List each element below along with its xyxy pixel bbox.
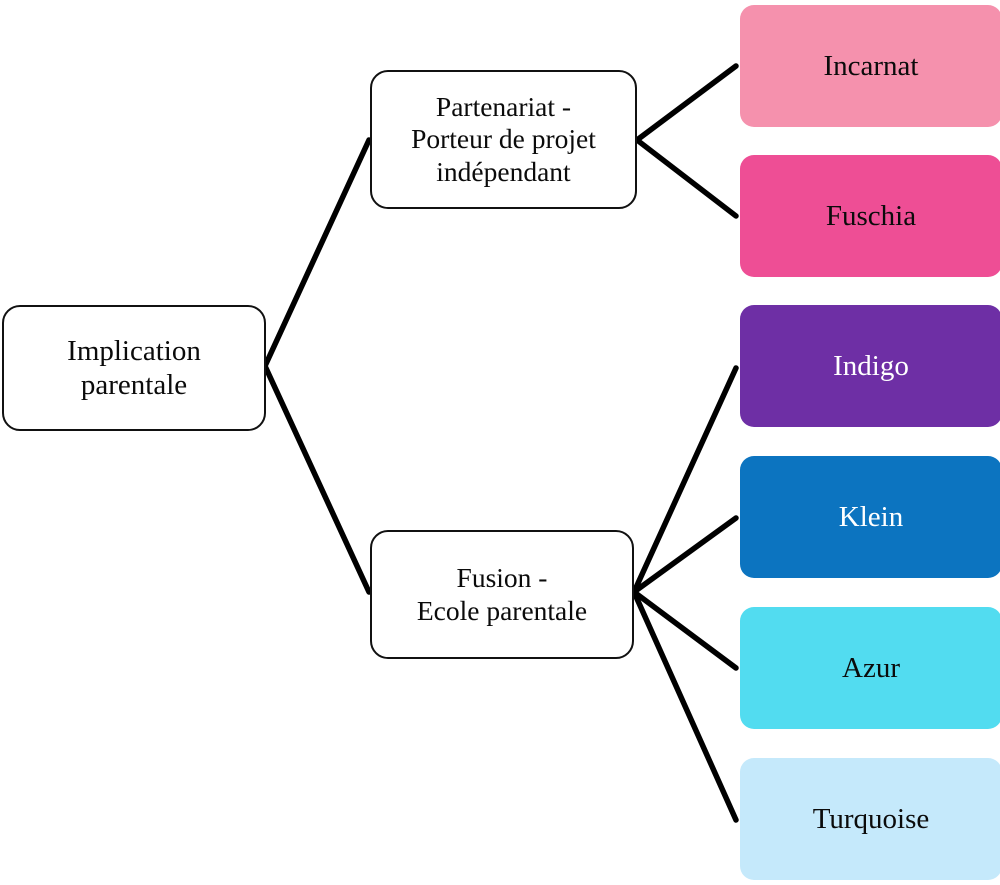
edge-root-to-partenariat <box>265 140 369 366</box>
node-fuschia[interactable]: Fuschia <box>740 155 1000 277</box>
node-label: Incarnat <box>814 49 929 83</box>
edge-partenariat-to-fuschia <box>637 140 736 216</box>
node-label: Implication parentale <box>57 334 211 402</box>
edge-partenariat-to-incarnat <box>637 66 736 140</box>
edge-fusion-to-klein <box>634 518 736 592</box>
edge-fusion-to-indigo <box>634 368 736 592</box>
node-label: Fuschia <box>816 199 926 233</box>
node-klein[interactable]: Klein <box>740 456 1000 578</box>
node-label: Azur <box>832 651 910 685</box>
node-fusion-ecole-parentale[interactable]: Fusion - Ecole parentale <box>370 530 634 659</box>
node-implication-parentale[interactable]: Implication parentale <box>2 305 266 431</box>
node-turquoise[interactable]: Turquoise <box>740 758 1000 880</box>
tree-diagram: Implication parentale Partenariat - Port… <box>0 0 1000 885</box>
node-label: Klein <box>829 500 913 534</box>
node-incarnat[interactable]: Incarnat <box>740 5 1000 127</box>
edge-root-to-fusion <box>265 366 369 592</box>
node-label: Fusion - Ecole parentale <box>407 562 597 627</box>
node-label: Turquoise <box>803 802 940 836</box>
edge-fusion-to-azur <box>634 592 736 668</box>
node-azur[interactable]: Azur <box>740 607 1000 729</box>
node-label: Partenariat - Porteur de projet indépend… <box>401 91 606 188</box>
node-indigo[interactable]: Indigo <box>740 305 1000 427</box>
node-partenariat-porteur-de-projet-independant[interactable]: Partenariat - Porteur de projet indépend… <box>370 70 637 209</box>
edge-fusion-to-turquoise <box>634 592 736 820</box>
node-label: Indigo <box>823 349 919 383</box>
